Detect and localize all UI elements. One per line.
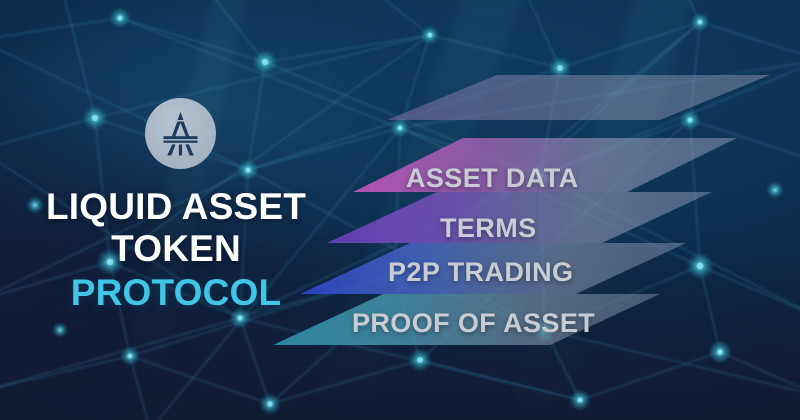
title-line-token: TOKEN bbox=[0, 228, 352, 270]
brand-headline: LIQUID ASSET TOKEN PROTOCOL bbox=[0, 186, 352, 316]
hero-banner: ASSET DATA TERMS P2P TRADING PROOF OF AS… bbox=[0, 0, 800, 420]
title-line-liquid-asset: LIQUID ASSET bbox=[0, 186, 352, 228]
layer-label-asset-data: ASSET DATA bbox=[406, 163, 579, 194]
layer-label-proof-of-asset: PROOF OF ASSET bbox=[352, 308, 595, 339]
title-line-protocol: PROTOCOL bbox=[0, 270, 352, 316]
layer-label-terms: TERMS bbox=[440, 213, 537, 244]
brand-logo bbox=[145, 98, 216, 169]
layer-label-p2p-trading: P2P TRADING bbox=[388, 257, 573, 288]
liquid-asset-token-monogram-icon bbox=[145, 98, 216, 169]
